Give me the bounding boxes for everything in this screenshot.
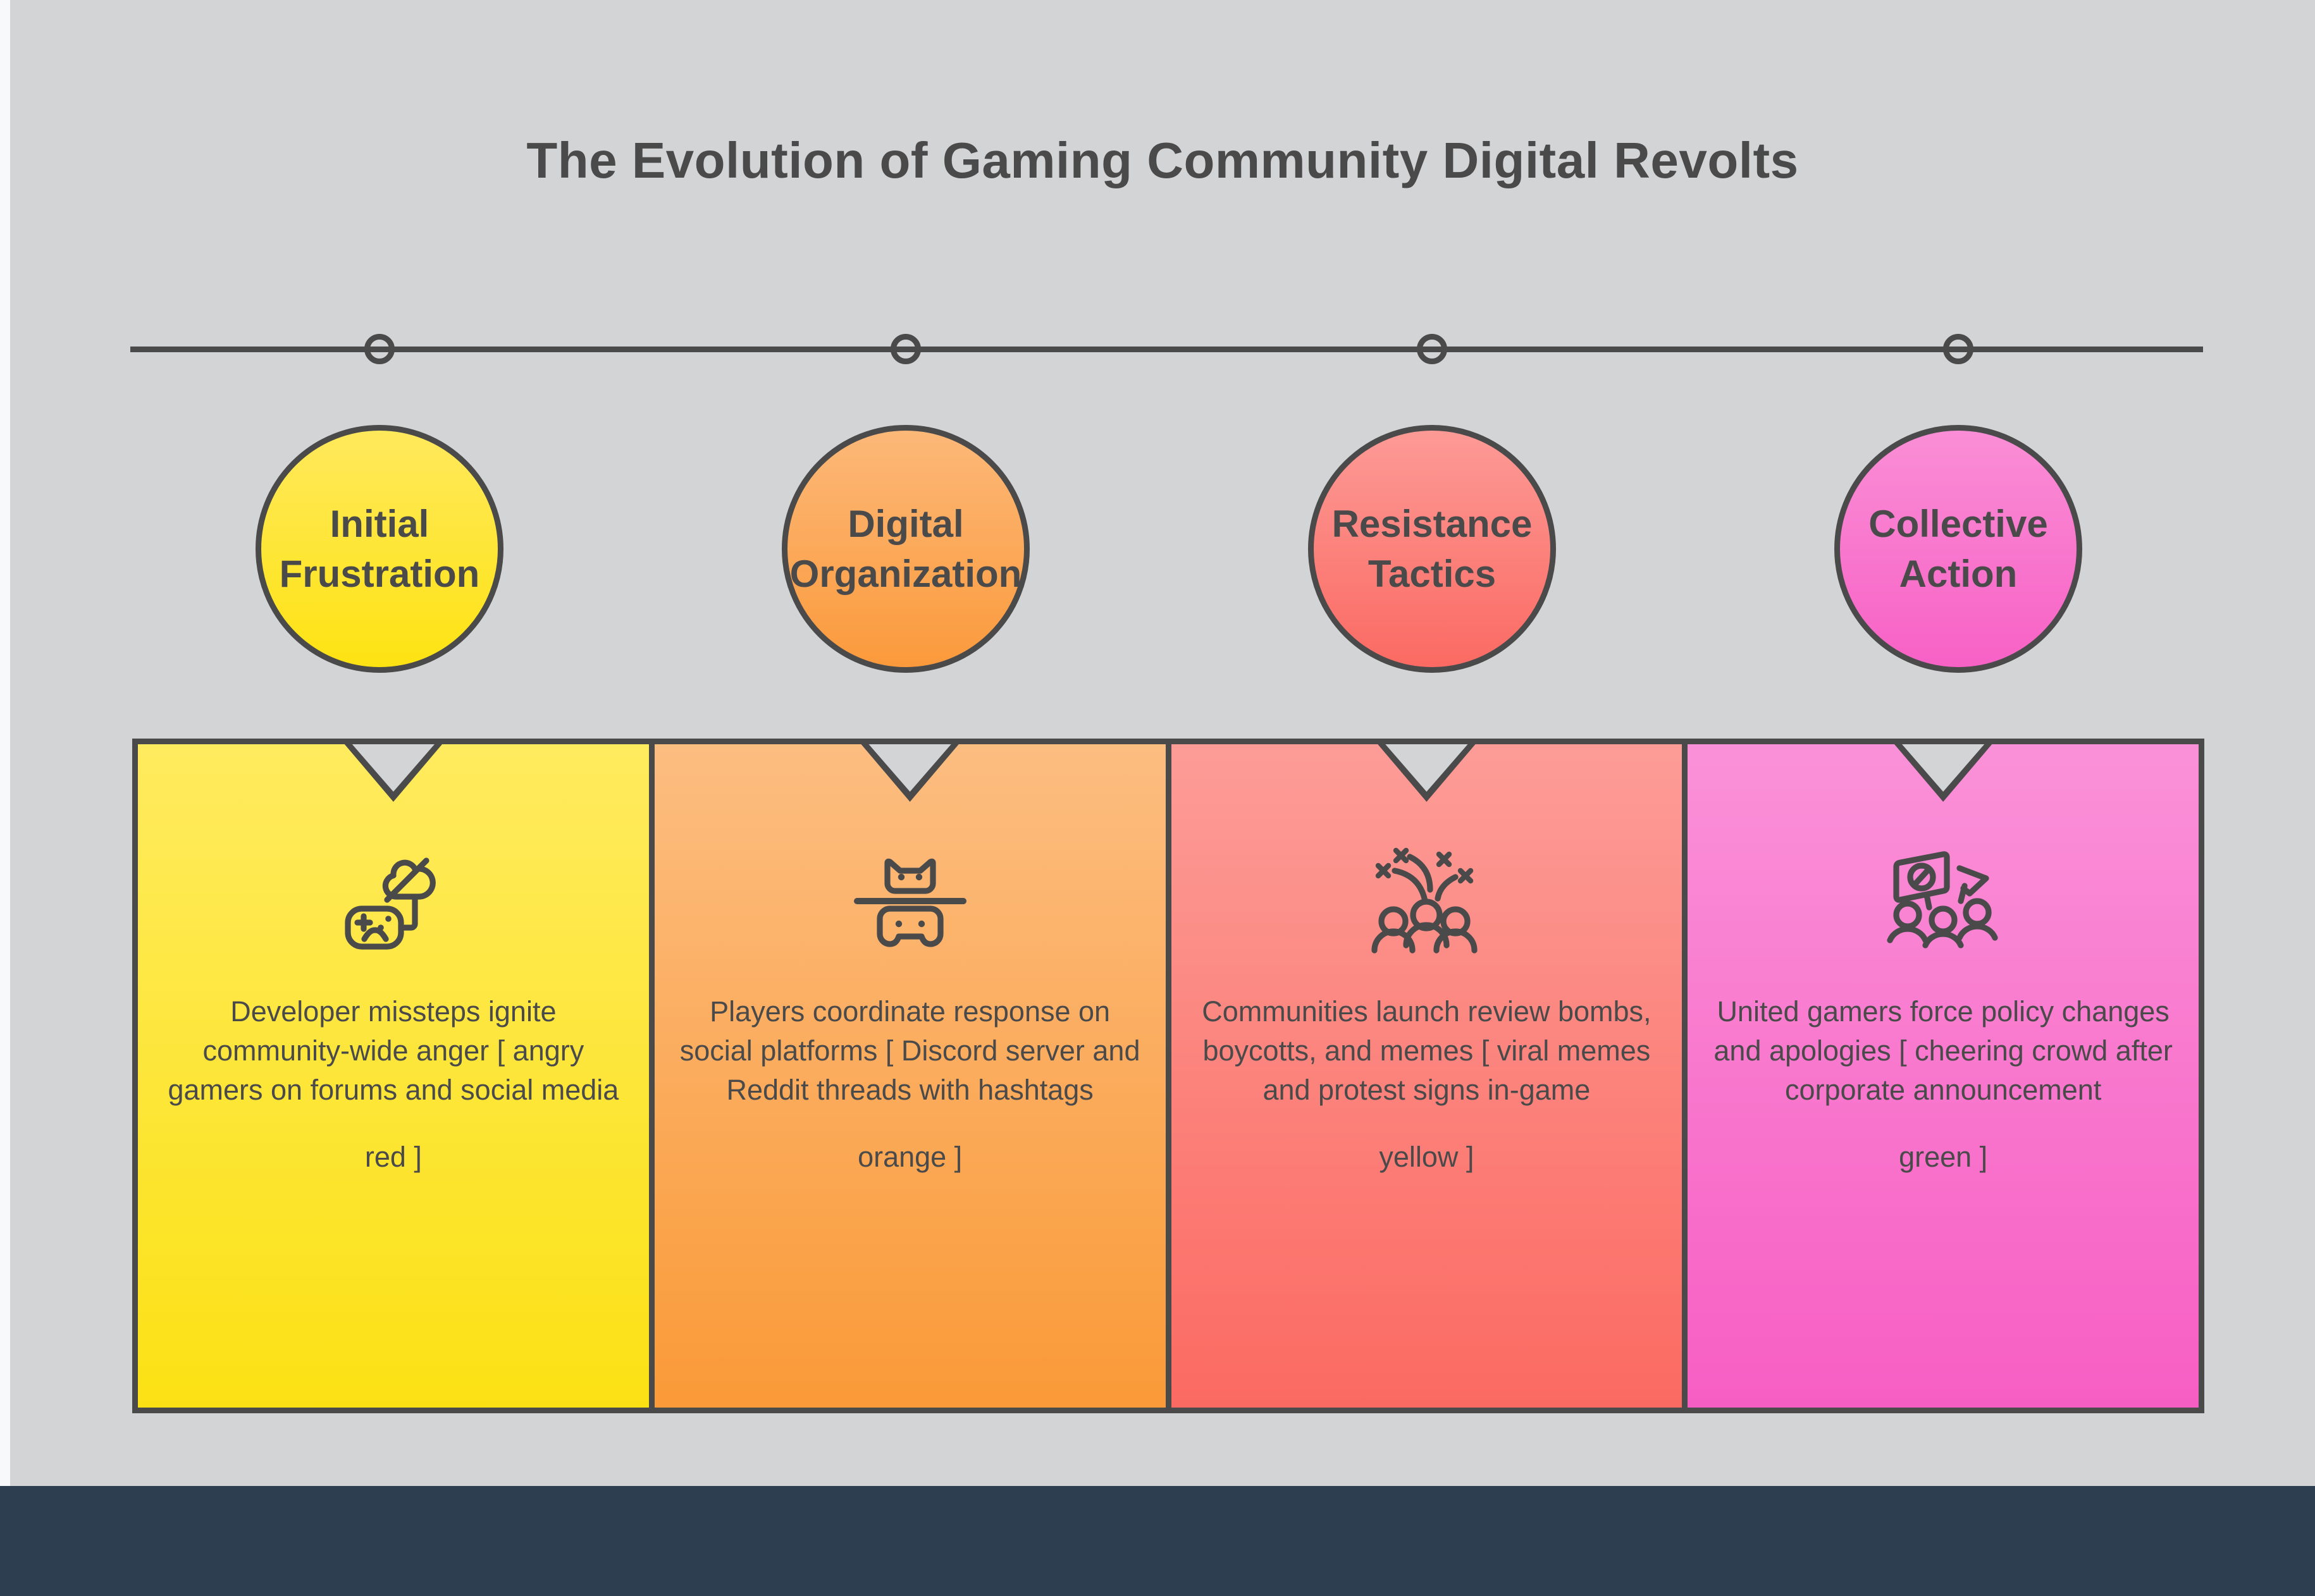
footer-bar <box>0 1486 2315 1596</box>
panel-tag: red ] <box>365 1138 422 1177</box>
stage-circle-resistance-tactics[interactable]: ResistanceTactics <box>1308 425 1556 673</box>
panel-tag: green ] <box>1899 1138 1987 1177</box>
panel-description: United gamers force policy changes and a… <box>1688 992 2199 1110</box>
panel-notch <box>352 744 435 792</box>
stage-circle-label: DigitalOrganization <box>790 499 1022 599</box>
panel-notch <box>1385 744 1468 792</box>
panel-description: Communities launch review bombs, boycott… <box>1171 992 1682 1110</box>
panel-description: Players coordinate response on social pl… <box>655 992 1166 1110</box>
protest-sign-crowd-icon <box>1877 838 2009 964</box>
stage-panels: Developer missteps ignite community-wide… <box>132 739 2204 1413</box>
timeline-marker-3[interactable] <box>1417 334 1447 364</box>
panel-tag: orange ] <box>858 1138 962 1177</box>
stage-circle-digital-organization[interactable]: DigitalOrganization <box>782 425 1030 673</box>
timeline-marker-1[interactable] <box>364 334 395 364</box>
dual-gamepad-divider-icon <box>844 838 977 964</box>
stage-panel-resistance-tactics[interactable]: Communities launch review bombs, boycott… <box>1166 744 1682 1408</box>
stage-circle-initial-frustration[interactable]: InitialFrustration <box>256 425 503 673</box>
crowd-confetti-icon <box>1360 838 1493 964</box>
page-title: The Evolution of Gaming Community Digita… <box>10 132 2315 190</box>
stage-circle-collective-action[interactable]: CollectiveAction <box>1834 425 2082 673</box>
panel-notch <box>1901 744 1985 792</box>
gamepad-cloud-off-icon <box>327 838 460 964</box>
stage-circle-label: CollectiveAction <box>1868 499 2047 599</box>
stage-circle-label: InitialFrustration <box>280 499 480 599</box>
stage-circle-label: ResistanceTactics <box>1332 499 1533 599</box>
stage-panel-collective-action[interactable]: United gamers force policy changes and a… <box>1682 744 2199 1408</box>
panel-notch <box>868 744 952 792</box>
stage-panel-initial-frustration[interactable]: Developer missteps ignite community-wide… <box>138 744 649 1408</box>
panel-tag: yellow ] <box>1379 1138 1474 1177</box>
timeline-axis <box>130 347 2203 352</box>
timeline-marker-2[interactable] <box>891 334 921 364</box>
timeline-marker-4[interactable] <box>1943 334 1973 364</box>
stage-panel-digital-organization[interactable]: Players coordinate response on social pl… <box>649 744 1166 1408</box>
infographic-stage: The Evolution of Gaming Community Digita… <box>10 0 2315 1486</box>
infographic-canvas: The Evolution of Gaming Community Digita… <box>0 0 2315 1596</box>
panel-description: Developer missteps ignite community-wide… <box>138 992 649 1110</box>
